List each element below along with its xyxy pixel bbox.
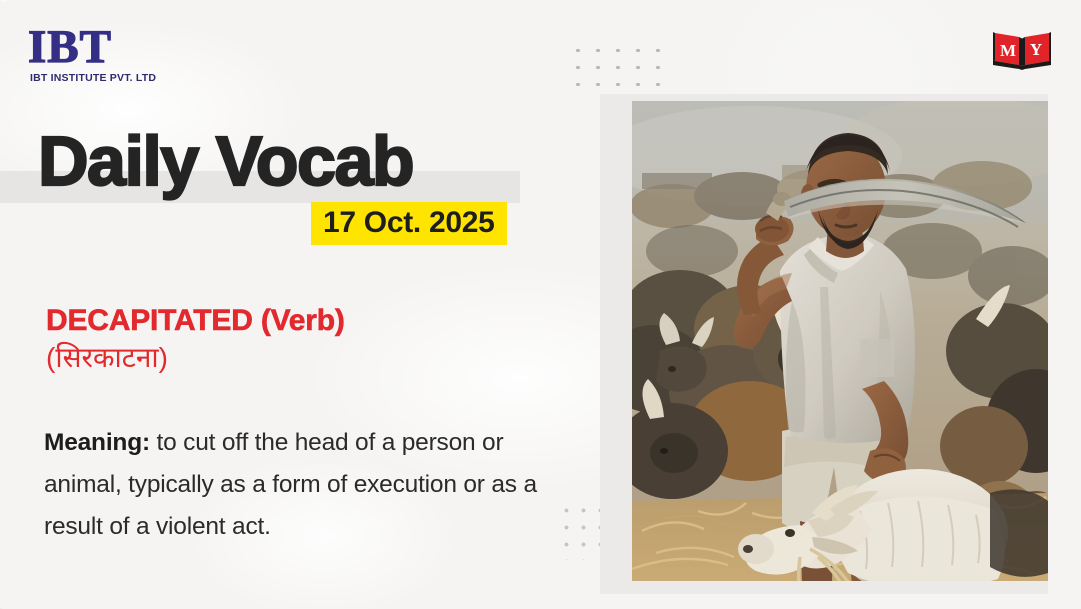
- vocab-meaning-block: Meaning: to cut off the head of a person…: [44, 422, 564, 548]
- open-book-icon: M Y: [991, 27, 1053, 71]
- vocab-word: DECAPITATED (Verb): [46, 303, 345, 338]
- vocab-illustration-photo: [632, 101, 1048, 581]
- svg-text:M: M: [1000, 41, 1016, 60]
- ibt-logo: IBT IBT INSTITUTE PVT. LTD: [28, 25, 168, 84]
- vocab-word-hindi: (सिरकाटना): [46, 340, 345, 376]
- vocab-word-block: DECAPITATED (Verb) (सिरकाटना): [46, 303, 345, 377]
- meaning-label: Meaning:: [44, 429, 150, 456]
- poster-canvas: IBT IBT INSTITUTE PVT. LTD M Y Daily Voc…: [0, 0, 1081, 609]
- ibt-tagline: IBT INSTITUTE PVT. LTD: [30, 72, 168, 84]
- date-badge: 17 Oct. 2025: [311, 202, 507, 245]
- dot-grid-top-decoration: [566, 40, 666, 86]
- ibt-wordmark: IBT: [28, 25, 168, 70]
- svg-text:Y: Y: [1030, 40, 1042, 59]
- page-title: Daily Vocab: [38, 126, 413, 196]
